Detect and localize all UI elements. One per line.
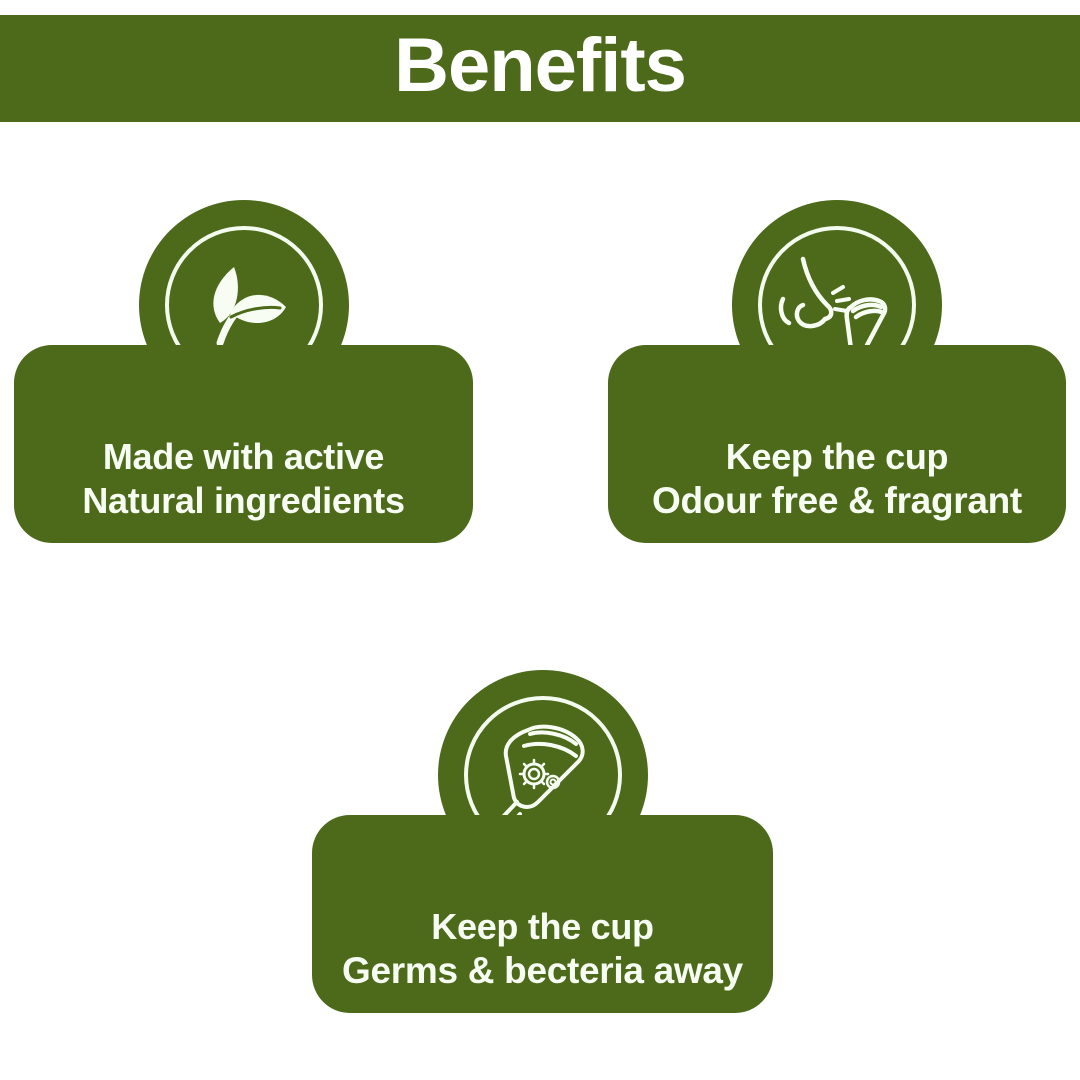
card-body: Made with active Natural ingredients [14,345,473,543]
card-line-2: Odour free & fragrant [652,479,1022,523]
card-line-1: Keep the cup [431,905,653,949]
page-title: Benefits [394,28,686,110]
card-body: Keep the cup Odour free & fragrant [608,345,1066,543]
card-line-2: Natural ingredients [82,479,404,523]
card-body: Keep the cup Germs & becteria away [312,815,773,1013]
header-banner: Benefits [0,15,1080,122]
card-line-2: Germs & becteria away [342,949,743,993]
card-line-1: Keep the cup [726,435,948,479]
card-line-1: Made with active [103,435,384,479]
leaf-icon [190,251,298,359]
